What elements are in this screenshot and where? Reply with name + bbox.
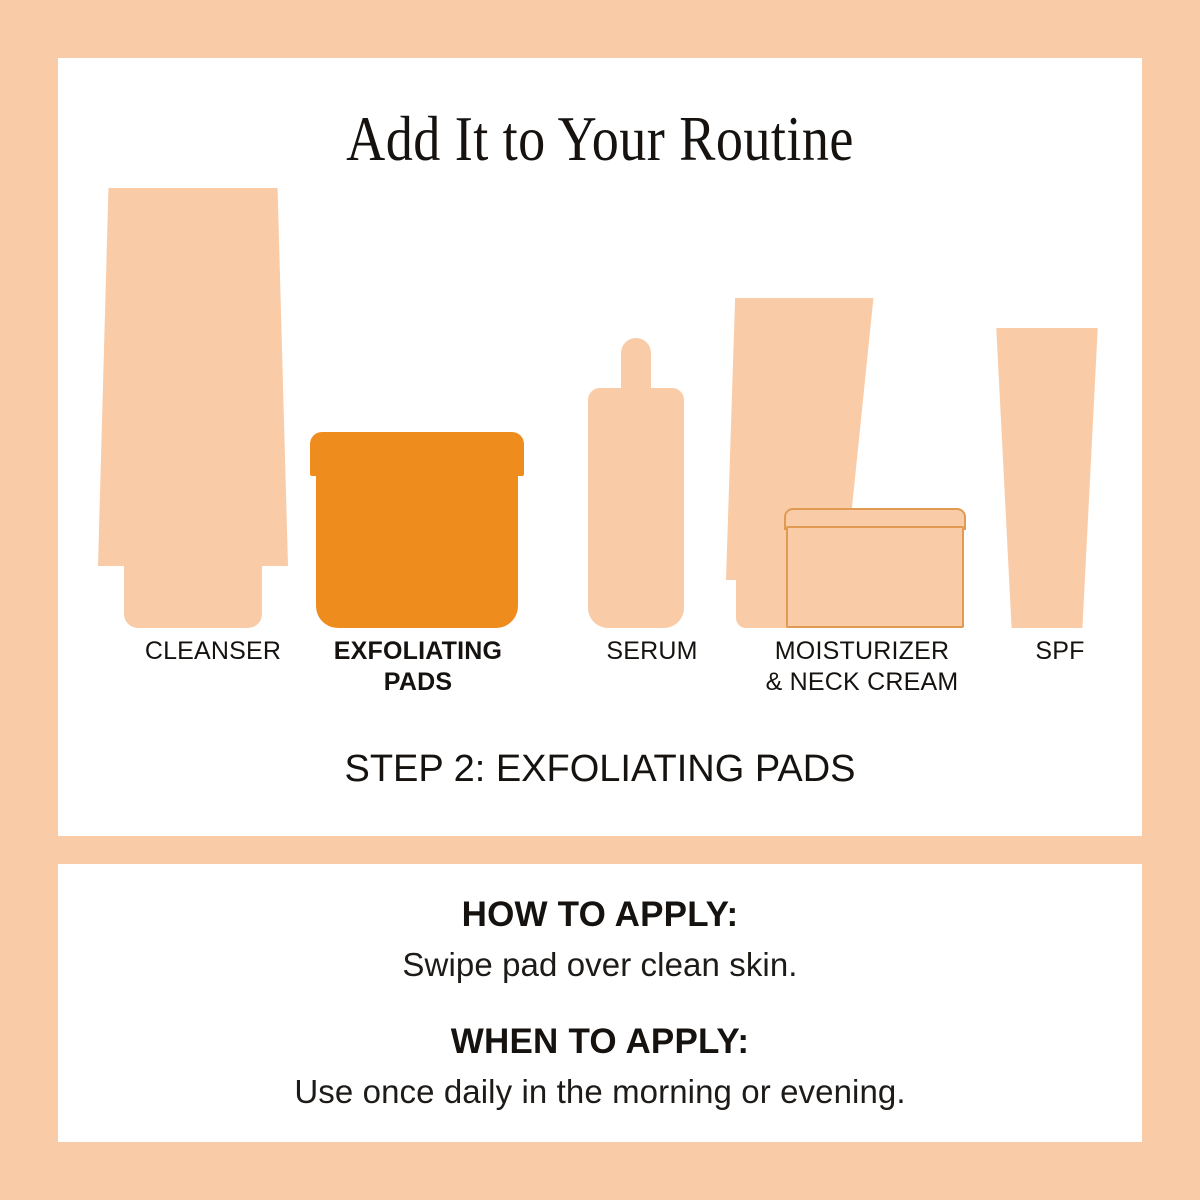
tube-cap-icon — [124, 554, 262, 628]
how-to-apply-heading: HOW TO APPLY: — [402, 895, 797, 935]
label-line-1: MOISTURIZER — [775, 637, 949, 665]
product-spf[interactable] — [988, 328, 1106, 628]
label-line-2: & NECK CREAM — [766, 668, 959, 696]
when-to-apply-heading: WHEN TO APPLY: — [294, 1022, 905, 1062]
neck-cream-jar-icon — [786, 526, 964, 628]
page-title: Add It to Your Routine — [84, 103, 1116, 176]
tube-icon — [988, 328, 1106, 628]
when-to-apply-block: WHEN TO APPLY: Use once daily in the mor… — [294, 1022, 905, 1111]
dropper-bottle-icon — [588, 388, 684, 628]
product-serum[interactable] — [588, 338, 684, 628]
product-cleanser[interactable] — [98, 188, 288, 628]
label-spf: SPF — [978, 636, 1142, 667]
jar-icon — [316, 470, 518, 628]
product-exfoliating-pads[interactable] — [310, 432, 524, 628]
how-to-apply-block: HOW TO APPLY: Swipe pad over clean skin. — [402, 895, 797, 984]
how-to-apply-body: Swipe pad over clean skin. — [402, 946, 797, 984]
product-neck-cream[interactable] — [784, 508, 966, 628]
product-labels: CLEANSER EXFOLIATING PADS SERUM MOISTURI… — [58, 636, 1142, 716]
instructions-content: HOW TO APPLY: Swipe pad over clean skin.… — [58, 864, 1142, 1142]
product-row — [58, 180, 1142, 628]
label-line-2: PADS — [384, 668, 452, 696]
label-exfoliating-pads: EXFOLIATING PADS — [273, 636, 563, 698]
when-to-apply-body: Use once daily in the morning or evening… — [294, 1073, 905, 1111]
label-line-1: EXFOLIATING — [334, 637, 502, 665]
tube-icon — [98, 188, 288, 566]
step-heading: STEP 2: EXFOLIATING PADS — [0, 748, 1200, 791]
infographic-canvas: Add It to Your Routine CLEANSER — [0, 0, 1200, 1200]
